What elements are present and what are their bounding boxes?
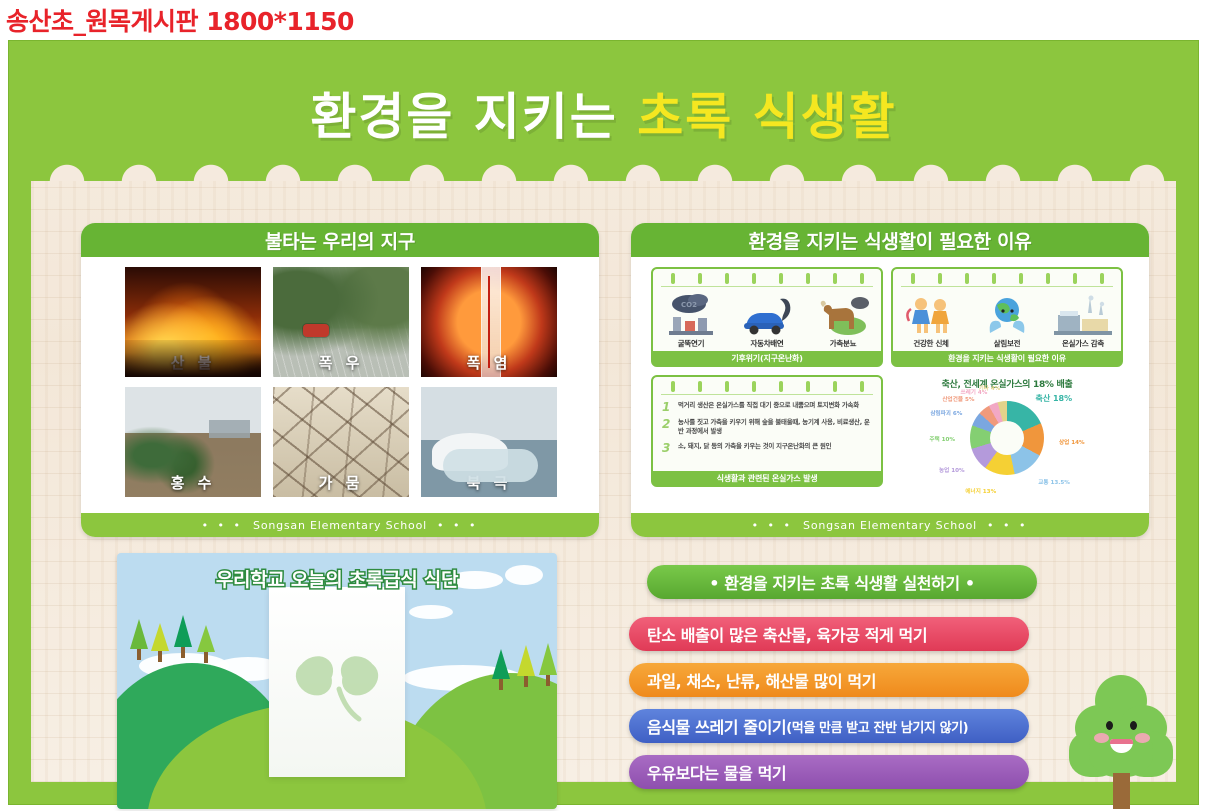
photo-caption: 가 뭄 bbox=[273, 472, 409, 493]
svg-text:CO2: CO2 bbox=[681, 301, 697, 309]
card-rule bbox=[661, 286, 873, 287]
action-pill-reduce-food-waste[interactable]: 음식물 쓰레기 줄이기(먹을 만큼 받고 잔반 남기지 않기) bbox=[629, 709, 1029, 743]
chart-slice-label: 삼림파괴 6% bbox=[930, 409, 962, 417]
card-rule bbox=[661, 394, 873, 395]
item-label: 자동차배연 bbox=[737, 338, 797, 349]
panel-why-green-diet: 환경을 지키는 식생활이 필요한 이유 CO2 bbox=[631, 223, 1149, 537]
panel-burning-earth: 불타는 우리의 지구 산 불 폭 우 폭 염 홍 수 가 뭄 북 극 • • • bbox=[81, 223, 599, 537]
actions-heading-label: • 환경을 지키는 초록 식생활 실천하기 • bbox=[709, 570, 974, 594]
action-pill-label: 음식물 쓰레기 줄이기 bbox=[647, 714, 786, 738]
scallop-edge bbox=[31, 146, 1176, 181]
panel-burning-earth-header: 불타는 우리의 지구 bbox=[81, 223, 599, 257]
photo-caption: 폭 염 bbox=[421, 352, 557, 373]
card-footer-label: 기후위기(지구온난화) bbox=[731, 353, 802, 364]
four-leaf-clover-icon bbox=[269, 587, 405, 777]
card-ghg-chart: 축산, 전세계 온실가스의 18% 배출 축산 18%상업 14%교통 13.5… bbox=[891, 375, 1123, 487]
page-title-white: 환경을 지키는 bbox=[310, 88, 617, 146]
tree-icon bbox=[130, 619, 148, 660]
note-number: 1 bbox=[662, 401, 674, 413]
cloud-icon bbox=[409, 605, 453, 619]
action-pill-reduce-meat[interactable]: 탄소 배출이 많은 축산물, 육가공 적게 먹기 bbox=[629, 617, 1029, 651]
menu-card-title: 우리학교 오늘의 초록급식 식단 bbox=[117, 565, 557, 592]
page-caption: 송산초_원목게시판 1800*1150 bbox=[6, 2, 354, 38]
photo-caption: 북 극 bbox=[421, 472, 557, 493]
note-number: 3 bbox=[662, 442, 674, 454]
item-label: 굴뚝연기 bbox=[661, 338, 721, 349]
card-rule bbox=[901, 286, 1113, 287]
item-label: 건강한 신체 bbox=[901, 338, 961, 349]
panel-why-green-diet-header: 환경을 지키는 식생활이 필요한 이유 bbox=[631, 223, 1149, 257]
photo-wildfire: 산 불 bbox=[125, 267, 261, 377]
healthy-body-icon bbox=[901, 291, 961, 335]
photo-heatwave: 폭 염 bbox=[421, 267, 557, 377]
note-line: 3 소, 돼지, 닭 등의 가축을 키우는 것이 지구온난화의 큰 원인 bbox=[662, 442, 874, 454]
panel-burning-earth-footer: • • • Songsan Elementary School • • • bbox=[81, 513, 599, 537]
card-footer-label: 환경을 지키는 식생활이 필요한 이유 bbox=[948, 353, 1066, 364]
action-pill-eat-produce[interactable]: 과일, 채소, 난류, 해산물 많이 먹기 bbox=[629, 663, 1029, 697]
smokestack-icon: CO2 bbox=[661, 291, 721, 335]
footer-school-name: Songsan Elementary School bbox=[803, 519, 977, 532]
item-label: 가축분뇨 bbox=[813, 338, 873, 349]
note-text: 소, 돼지, 닭 등의 가축을 키우는 것이 지구온난화의 큰 원인 bbox=[678, 442, 831, 454]
tree-icon bbox=[197, 625, 215, 663]
card-climate-causes: CO2 굴뚝연기 bbox=[651, 267, 883, 367]
tree-icon bbox=[492, 649, 510, 690]
bulletin-board: 환경을 지키는 초록 식생활 불타는 우리의 지구 산 불 폭 우 폭 염 홍 … bbox=[8, 40, 1199, 805]
binder-rings bbox=[659, 381, 875, 393]
panel-why-green-diet-footer: • • • Songsan Elementary School • • • bbox=[631, 513, 1149, 537]
item-livestock-manure: 가축분뇨 bbox=[813, 291, 873, 349]
item-smokestack: CO2 굴뚝연기 bbox=[661, 291, 721, 349]
disaster-photo-grid: 산 불 폭 우 폭 염 홍 수 가 뭄 북 극 bbox=[125, 267, 557, 505]
photo-caption: 산 불 bbox=[125, 352, 261, 373]
tree-icon bbox=[517, 645, 535, 687]
action-pill-label: 과일, 채소, 난류, 해산물 많이 먹기 bbox=[647, 668, 876, 692]
page-title: 환경을 지키는 초록 식생활 bbox=[31, 77, 1176, 149]
donut-chart bbox=[970, 401, 1044, 475]
card-diet-benefits: 건강한 신체 살 bbox=[891, 267, 1123, 367]
card-ghg-notes-lines: 1 먹거리 생산은 온실가스를 직접 대기 중으로 내뿜으며 토지변화 가속화 … bbox=[662, 401, 874, 467]
panel-why-green-diet-title: 환경을 지키는 식생활이 필요한 이유 bbox=[749, 227, 1032, 254]
card-diet-benefits-footer: 환경을 지키는 식생활이 필요한 이유 bbox=[893, 351, 1121, 365]
binder-rings bbox=[899, 273, 1115, 285]
photo-caption: 홍 수 bbox=[125, 472, 261, 493]
page-title-yellow: 초록 식생활 bbox=[637, 88, 896, 146]
earth-hands-icon bbox=[977, 291, 1037, 335]
item-earth-preservation: 살림보전 bbox=[977, 291, 1037, 349]
item-label: 살림보전 bbox=[977, 338, 1037, 349]
card-diet-benefits-icons: 건강한 신체 살 bbox=[893, 291, 1121, 349]
chart-plot-area: 축산 18%상업 14%교통 13.5%에너지 13%농업 10%주택 10%삼… bbox=[891, 393, 1123, 483]
item-car-exhaust: 자동차배연 bbox=[737, 291, 797, 349]
menu-sheet[interactable] bbox=[269, 587, 405, 777]
item-healthy-body: 건강한 신체 bbox=[901, 291, 961, 349]
lunch-menu-card[interactable]: 우리학교 오늘의 초록급식 식단 bbox=[117, 553, 557, 809]
action-pill-label: 우유보다는 물을 먹기 bbox=[647, 760, 786, 784]
tree-mascot-icon bbox=[1065, 669, 1177, 809]
factory-reduction-icon bbox=[1053, 291, 1113, 335]
note-number: 2 bbox=[662, 418, 674, 437]
chart-slice-label: 상업 14% bbox=[1059, 438, 1085, 446]
card-ghg-notes-footer: 식생활과 관련된 온실가스 발생 bbox=[653, 471, 881, 485]
livestock-manure-icon bbox=[813, 291, 873, 335]
item-ghg-reduction: 온실가스 감축 bbox=[1053, 291, 1113, 349]
note-text: 농사를 짓고 가축을 키우기 위해 숲을 불태울때, 농기계 사용, 비료생산,… bbox=[678, 418, 874, 437]
action-pill-label: 탄소 배출이 많은 축산물, 육가공 적게 먹기 bbox=[647, 622, 927, 646]
footer-dots-left: • • • bbox=[752, 519, 793, 532]
chart-slice-label: 기타 4% bbox=[979, 384, 1001, 392]
note-line: 1 먹거리 생산은 온실가스를 직접 대기 중으로 내뿜으며 토지변화 가속화 bbox=[662, 401, 874, 413]
footer-dots-right: • • • bbox=[437, 519, 478, 532]
footer-dots-left: • • • bbox=[202, 519, 243, 532]
card-climate-causes-footer: 기후위기(지구온난화) bbox=[653, 351, 881, 365]
chart-slice-label: 축산 18% bbox=[1035, 393, 1072, 404]
panel-why-green-diet-body: CO2 굴뚝연기 bbox=[637, 257, 1143, 513]
chart-slice-label: 산업건물 5% bbox=[942, 395, 974, 403]
binder-rings bbox=[659, 273, 875, 285]
tree-icon bbox=[174, 615, 192, 658]
photo-flood: 홍 수 bbox=[125, 387, 261, 497]
photo-heavy-rain: 폭 우 bbox=[273, 267, 409, 377]
chart-slice-label: 교통 13.5% bbox=[1038, 478, 1070, 486]
board-header: 환경을 지키는 초록 식생활 bbox=[31, 63, 1176, 181]
photo-caption: 폭 우 bbox=[273, 352, 409, 373]
footer-dots-right: • • • bbox=[987, 519, 1028, 532]
card-footer-label: 식생활과 관련된 온실가스 발생 bbox=[717, 473, 818, 484]
panel-burning-earth-title: 불타는 우리의 지구 bbox=[265, 227, 415, 254]
actions-heading-pill[interactable]: • 환경을 지키는 초록 식생활 실천하기 • bbox=[647, 565, 1037, 599]
tree-icon bbox=[151, 623, 169, 662]
action-pill-drink-water[interactable]: 우유보다는 물을 먹기 bbox=[629, 755, 1029, 789]
donut-hole bbox=[990, 421, 1024, 455]
tree-icon bbox=[539, 643, 557, 686]
note-text: 먹거리 생산은 온실가스를 직접 대기 중으로 내뿜으며 토지변화 가속화 bbox=[678, 401, 859, 413]
photo-drought: 가 뭄 bbox=[273, 387, 409, 497]
card-climate-causes-icons: CO2 굴뚝연기 bbox=[653, 291, 881, 349]
car-exhaust-icon bbox=[737, 291, 797, 335]
panel-burning-earth-body: 산 불 폭 우 폭 염 홍 수 가 뭄 북 극 bbox=[87, 257, 593, 513]
note-line: 2 농사를 짓고 가축을 키우기 위해 숲을 불태울때, 농기계 사용, 비료생… bbox=[662, 418, 874, 437]
card-ghg-notes: 1 먹거리 생산은 온실가스를 직접 대기 중으로 내뿜으며 토지변화 가속화 … bbox=[651, 375, 883, 487]
chart-slice-label: 농업 10% bbox=[939, 466, 965, 474]
chart-slice-label: 주택 10% bbox=[929, 435, 955, 443]
chart-title: 축산, 전세계 온실가스의 18% 배출 bbox=[891, 377, 1123, 390]
item-label: 온실가스 감축 bbox=[1053, 338, 1113, 349]
photo-arctic: 북 극 bbox=[421, 387, 557, 497]
footer-school-name: Songsan Elementary School bbox=[253, 519, 427, 532]
chart-slice-label: 에너지 13% bbox=[965, 487, 996, 495]
action-pill-label-suffix: (먹을 만큼 받고 잔반 남기지 않기) bbox=[786, 717, 968, 736]
